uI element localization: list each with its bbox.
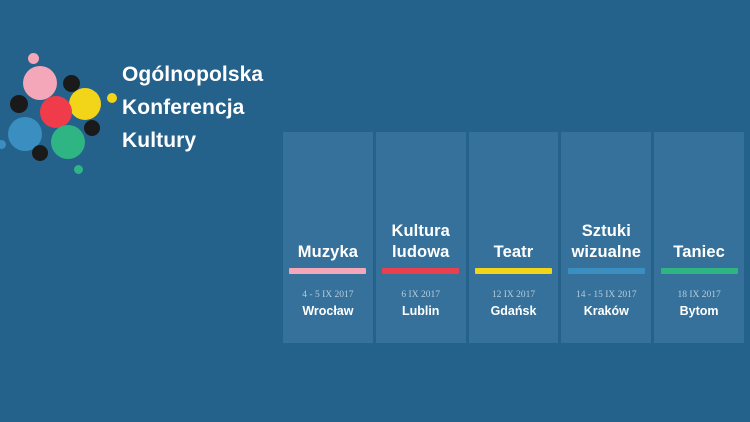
event-card-date: 6 IX 2017 (401, 289, 440, 301)
logo-wordmark: Ogólnopolska Konferencja Kultury (122, 58, 263, 157)
event-card-accent-bar (382, 268, 459, 274)
event-card-sztuki-wizualne[interactable]: Sztuki wizualne14 - 15 IX 2017Kraków (561, 132, 651, 343)
event-card-title: Muzyka (298, 242, 358, 263)
event-card-teatr[interactable]: Teatr12 IX 2017Gdańsk (469, 132, 559, 343)
event-card-title: Sztuki wizualne (572, 221, 642, 263)
event-card-taniec[interactable]: Taniec18 IX 2017Bytom (654, 132, 744, 343)
event-card-date: 18 IX 2017 (677, 289, 720, 301)
event-card-city: Lublin (402, 304, 440, 319)
red-circle (40, 96, 72, 128)
event-card-row: Muzyka4 - 5 IX 2017WrocławKultura ludowa… (283, 132, 744, 343)
small-blue-dot (0, 140, 6, 149)
small-green-dot (74, 165, 83, 174)
event-card-title: Teatr (494, 242, 534, 263)
small-yellow-dot (107, 93, 117, 103)
logo-line-1: Ogólnopolska (122, 58, 263, 91)
poster-canvas: Ogólnopolska Konferencja Kultury Muzyka4… (0, 0, 750, 422)
large-pink-circle (23, 66, 57, 100)
event-card-title: Taniec (673, 242, 725, 263)
event-card-date: 12 IX 2017 (492, 289, 535, 301)
event-card-city: Gdańsk (491, 304, 537, 319)
event-card-content: Teatr12 IX 2017Gdańsk (469, 132, 559, 343)
circle-cluster-mark (0, 50, 120, 190)
logo-line-2: Konferencja (122, 91, 263, 124)
event-card-kultura-ludowa[interactable]: Kultura ludowa6 IX 2017Lublin (376, 132, 466, 343)
green-circle (51, 125, 85, 159)
event-card-content: Muzyka4 - 5 IX 2017Wrocław (283, 132, 373, 343)
black-dot-bottom (32, 145, 48, 161)
event-card-city: Wrocław (302, 304, 353, 319)
yellow-circle (69, 88, 101, 120)
event-card-city: Kraków (584, 304, 629, 319)
event-card-date: 14 - 15 IX 2017 (576, 289, 637, 301)
event-card-date: 4 - 5 IX 2017 (302, 289, 353, 301)
event-card-content: Taniec18 IX 2017Bytom (654, 132, 744, 343)
event-card-accent-bar (475, 268, 552, 274)
event-card-accent-bar (289, 268, 366, 274)
event-card-content: Sztuki wizualne14 - 15 IX 2017Kraków (561, 132, 651, 343)
event-card-accent-bar (661, 268, 738, 274)
event-card-city: Bytom (680, 304, 719, 319)
event-card-accent-bar (568, 268, 645, 274)
black-dot-right (84, 120, 100, 136)
event-card-muzyka[interactable]: Muzyka4 - 5 IX 2017Wrocław (283, 132, 373, 343)
logo-block: Ogólnopolska Konferencja Kultury (0, 50, 290, 190)
event-card-title: Kultura ludowa (391, 221, 449, 263)
black-dot-left (10, 95, 28, 113)
logo-line-3: Kultury (122, 124, 263, 157)
small-pink-dot (28, 53, 39, 64)
event-card-content: Kultura ludowa6 IX 2017Lublin (376, 132, 466, 343)
